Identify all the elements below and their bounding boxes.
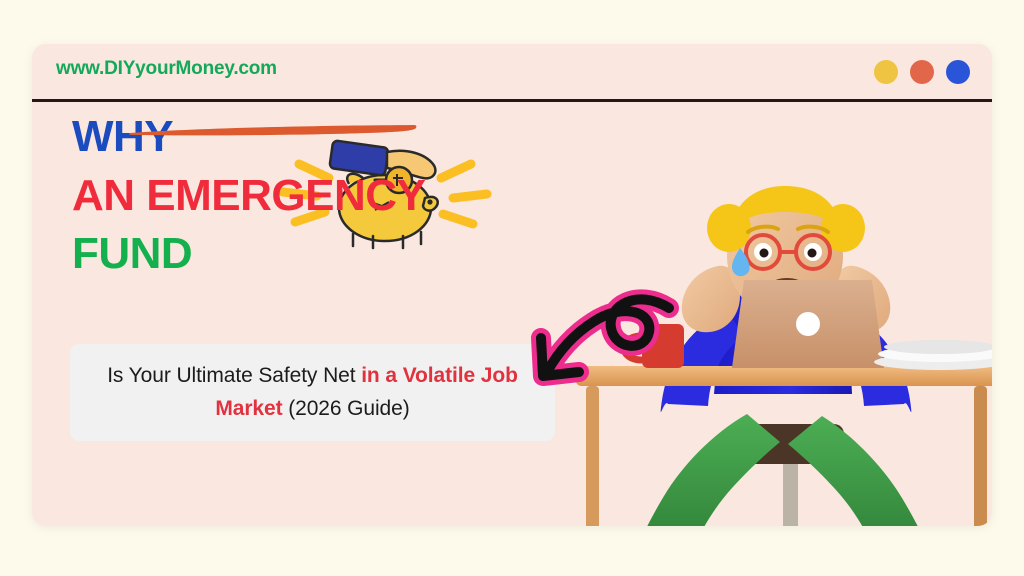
headline-line-1: WHY xyxy=(72,108,425,167)
headline-line-3: FUND xyxy=(72,225,425,284)
poster-canvas: www.DIYyourMoney.com xyxy=(0,0,1024,576)
headline-line-2: AN EMERGENCY xyxy=(72,167,425,226)
laptop xyxy=(732,280,884,368)
plates-stack xyxy=(874,340,992,370)
window-control-dots xyxy=(874,60,970,84)
subtitle-text: Is Your Ultimate Safety Net in a Volatil… xyxy=(70,360,555,425)
window-dot-blue[interactable] xyxy=(946,60,970,84)
site-url-text: www.DIYyourMoney.com xyxy=(56,58,277,80)
curly-arrow-decoration xyxy=(519,272,689,397)
subtitle-part-1: Is Your Ultimate Safety Net xyxy=(107,364,361,387)
pigtail-left xyxy=(707,204,751,252)
headline-block: WHY AN EMERGENCY FUND xyxy=(72,108,425,284)
browser-bar-divider xyxy=(32,99,992,102)
subtitle-panel: Is Your Ultimate Safety Net in a Volatil… xyxy=(70,344,555,441)
window-dot-yellow[interactable] xyxy=(874,60,898,84)
subtitle-part-2: (2026 Guide) xyxy=(282,397,409,420)
window-dot-orange[interactable] xyxy=(910,60,934,84)
browser-top-bar: www.DIYyourMoney.com xyxy=(32,44,992,99)
